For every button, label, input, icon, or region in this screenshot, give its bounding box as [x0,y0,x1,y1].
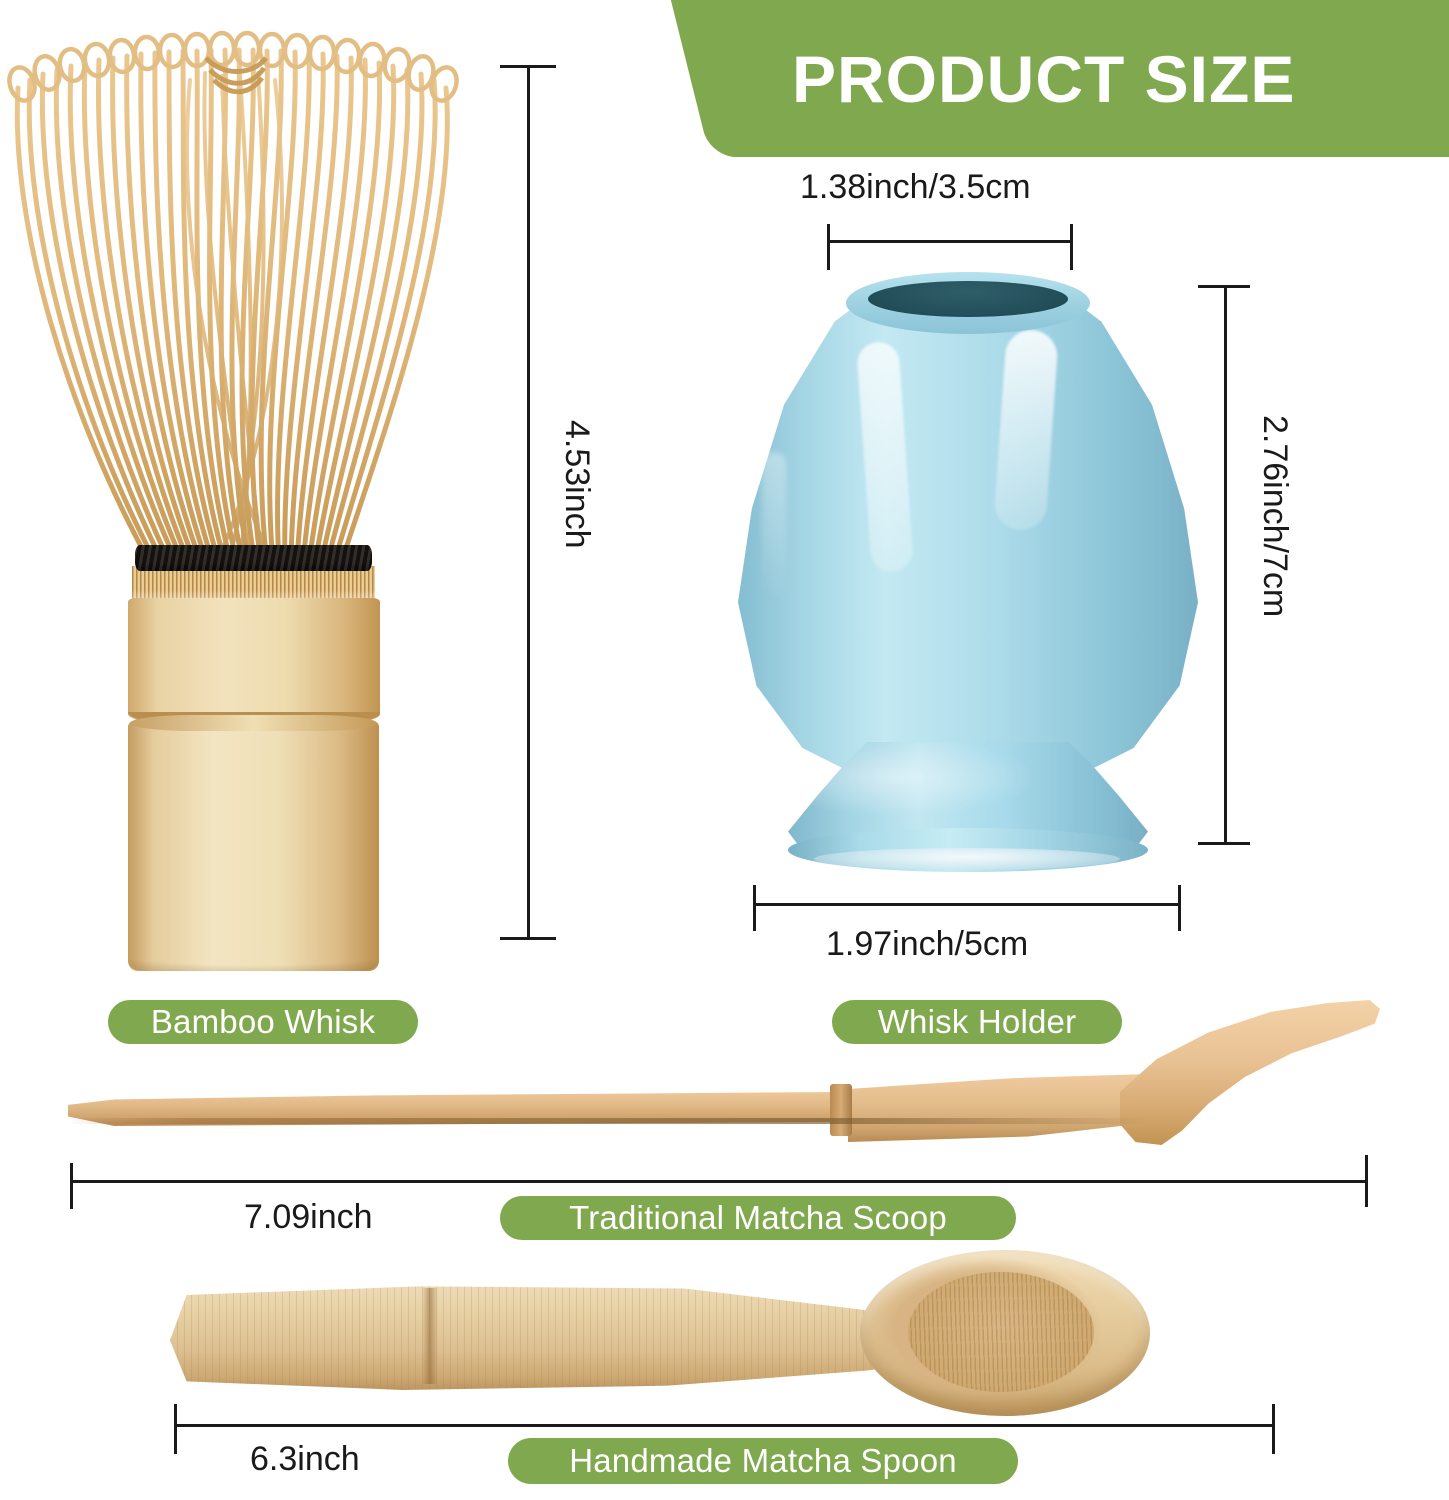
holder-top-tick-left [827,224,830,270]
whisk-handle-lower [128,721,379,971]
spoon-dim-line [174,1424,1274,1427]
scoop-length-label: 7.09inch [244,1198,373,1237]
whisk-thread-band [135,545,372,571]
whisk-dim-line [527,65,530,940]
holder-base-dim-line [753,903,1181,906]
label-matcha-scoop-text: Traditional Matcha Scoop [569,1199,947,1237]
label-matcha-scoop: Traditional Matcha Scoop [500,1196,1016,1240]
spoon-tick-left [174,1404,177,1454]
holder-height-tick-bottom [1198,842,1250,845]
spoon-tick-right [1272,1404,1275,1454]
holder-base-width-label: 1.97inch/5cm [826,925,1028,964]
holder-highlight-left [762,452,786,602]
holder-foot-shadow [814,848,1120,870]
matcha-spoon-image [170,1248,1300,1418]
scoop-neck [848,1074,1148,1142]
whisk-handle-upper [128,598,380,728]
matcha-scoop-image [60,1000,1380,1160]
spoon-length-label: 6.3inch [250,1440,360,1479]
scoop-dim-line [70,1180,1368,1183]
holder-base-tick-right [1178,885,1181,931]
label-matcha-spoon: Handmade Matcha Spoon [508,1438,1018,1484]
scoop-curved-tip [1120,1000,1380,1148]
holder-base-tick-left [753,885,756,931]
whisk-dim-tick-bottom [500,937,556,940]
scoop-tick-right [1365,1155,1368,1207]
page-title: PRODUCT SIZE [710,0,1449,157]
holder-height-dim-line [1224,285,1227,845]
holder-top-tick-right [1070,224,1073,270]
scoop-bottom-edge [68,1118,1148,1124]
scoop-tick-left [70,1163,73,1209]
whisk-height-label: 4.53inch [557,420,596,549]
bamboo-whisk-image [0,18,470,968]
scoop-bamboo-node [830,1084,852,1136]
whisk-holder-image [718,272,1218,872]
spoon-bamboo-node [422,1288,438,1384]
label-matcha-spoon-text: Handmade Matcha Spoon [569,1442,957,1480]
product-size-infographic: PRODUCT SIZE [0,0,1449,1500]
holder-opening [868,281,1068,317]
holder-top-width-label: 1.38inch/3.5cm [800,168,1031,207]
holder-height-label: 2.76inch/7cm [1255,415,1294,617]
spoon-bowl-rim [860,1250,1150,1416]
holder-body [738,280,1198,800]
holder-top-dim-line [827,240,1073,243]
